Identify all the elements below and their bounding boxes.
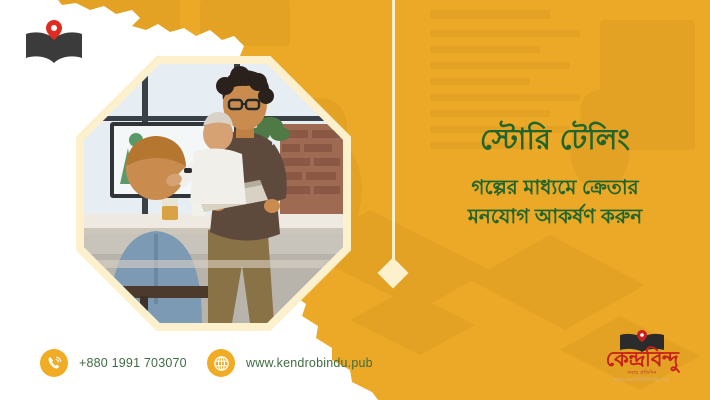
photo-octagon (76, 56, 351, 331)
subtitle-line-1: গল্পের মাধ্যমে ক্রেতার (412, 174, 698, 203)
logo-url: www.kendrobindu.pub (588, 377, 696, 383)
subtitle: গল্পের মাধ্যমে ক্রেতার মনযোগ আকর্ষণ করুন (412, 174, 698, 232)
phone-number: +880 1991 703070 (79, 356, 187, 370)
page-title: স্টোরি টেলিং (412, 122, 698, 158)
subtitle-line-2: মনযোগ আকর্ষণ করুন (412, 203, 698, 232)
contact-phone[interactable]: +880 1991 703070 (40, 349, 187, 377)
globe-icon (207, 349, 235, 377)
office-meeting-photo (84, 64, 343, 323)
phone-ringing-icon (40, 349, 68, 377)
copy-block: স্টোরি টেলিং গল্পের মাধ্যমে ক্রেতার মনযো… (412, 122, 698, 232)
website-url: www.kendrobindu.pub (246, 356, 373, 370)
company-logo[interactable]: কেন্দ্রবিন্দু সবার প্রতিদিন www.kendrobi… (588, 330, 696, 388)
logo-wordmark: কেন্দ্রবিন্দু (588, 349, 696, 370)
promo-banner: স্টোরি টেলিং গল্পের মাধ্যমে ক্রেতার মনযো… (0, 0, 710, 400)
contact-website[interactable]: www.kendrobindu.pub (207, 349, 373, 377)
